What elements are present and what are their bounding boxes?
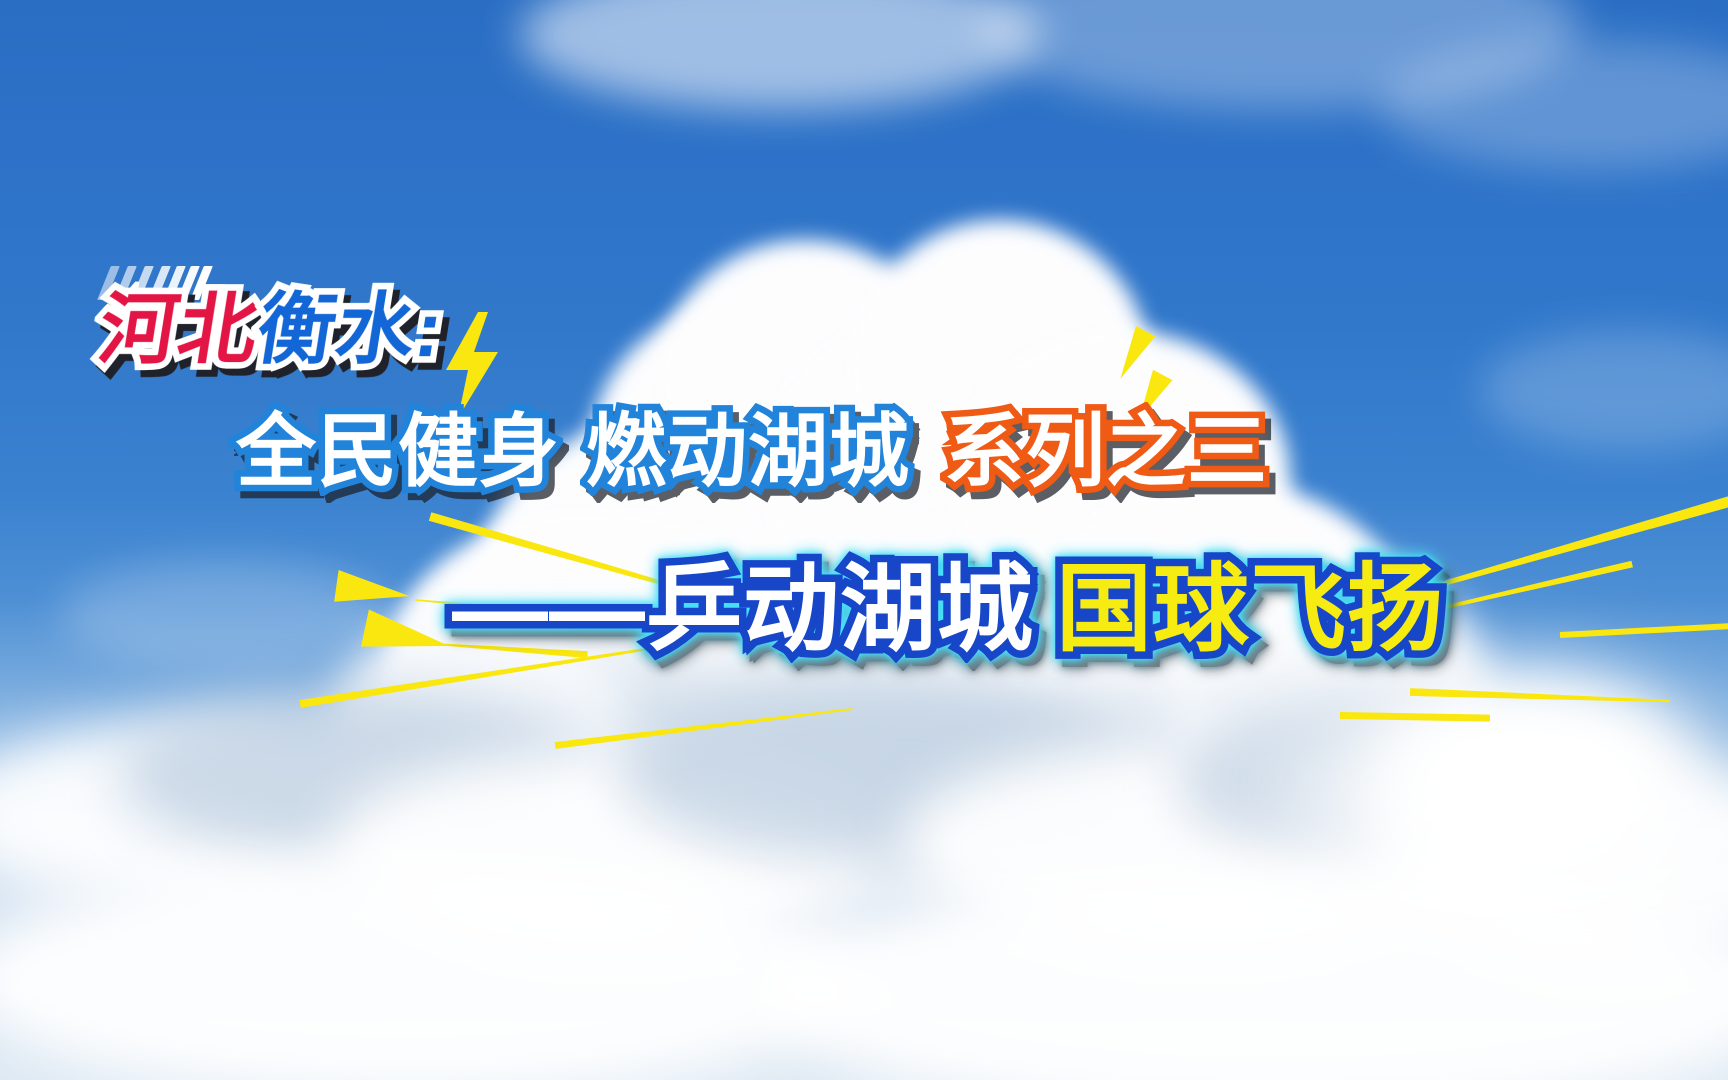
speed-ray: [299, 641, 676, 708]
speed-ray: [428, 640, 588, 658]
accent-triangle: [334, 570, 412, 612]
speed-ray: [555, 705, 854, 749]
decorative-accents: [0, 0, 1728, 1080]
accent-triangle: [1130, 370, 1173, 424]
speed-ray: [1560, 623, 1728, 638]
speed-ray: [1410, 688, 1670, 705]
speed-ray: [1330, 494, 1728, 620]
speed-ray: [429, 512, 768, 617]
speed-ray: [415, 596, 744, 633]
speed-ray: [1340, 712, 1490, 722]
lightning-bolt-icon: [440, 312, 504, 418]
title-card: 河北衡水: 全民健身燃动湖城系列之三 ——乒动湖城国球飞扬: [0, 0, 1728, 1080]
accent-triangle: [361, 609, 453, 664]
